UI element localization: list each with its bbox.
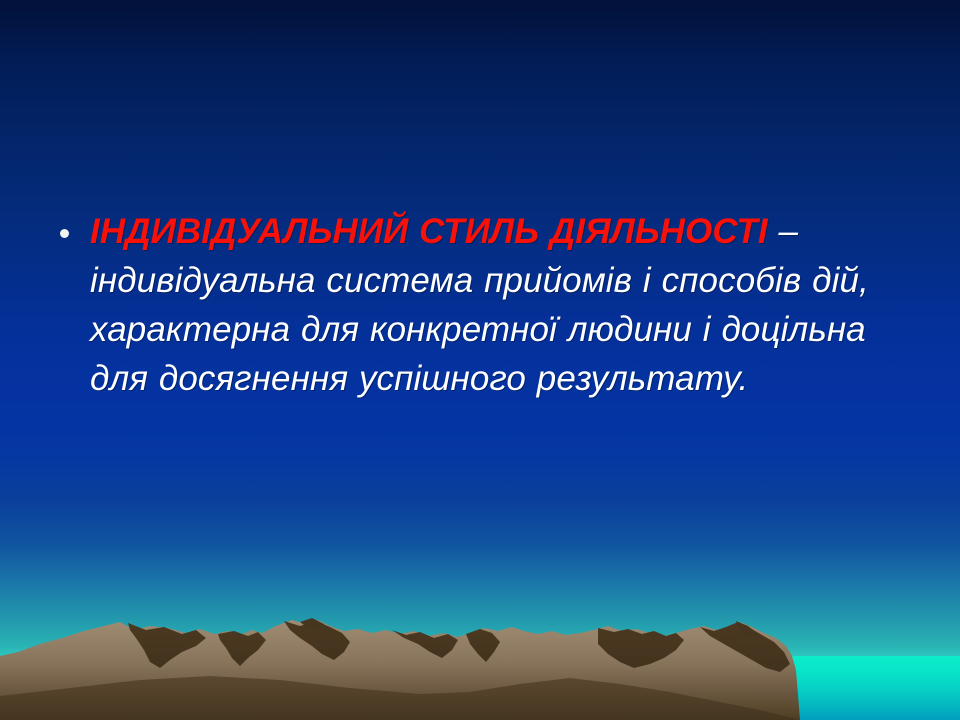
mountain-range-graphic [0, 600, 960, 720]
slide-canvas: ІНДИВІДУАЛЬНИЙ СТИЛЬ ДІЯЛЬНОСТІ – індиві… [0, 0, 960, 720]
term-highlight: ІНДИВІДУАЛЬНИЙ СТИЛЬ ДІЯЛЬНОСТІ [90, 212, 768, 251]
bullet-list-item: ІНДИВІДУАЛЬНИЙ СТИЛЬ ДІЯЛЬНОСТІ – індиві… [46, 207, 914, 403]
definition-paragraph: ІНДИВІДУАЛЬНИЙ СТИЛЬ ДІЯЛЬНОСТІ – індиві… [90, 207, 914, 403]
slide-text-block: ІНДИВІДУАЛЬНИЙ СТИЛЬ ДІЯЛЬНОСТІ – індиві… [46, 172, 914, 438]
bullet-point-icon [60, 229, 69, 238]
